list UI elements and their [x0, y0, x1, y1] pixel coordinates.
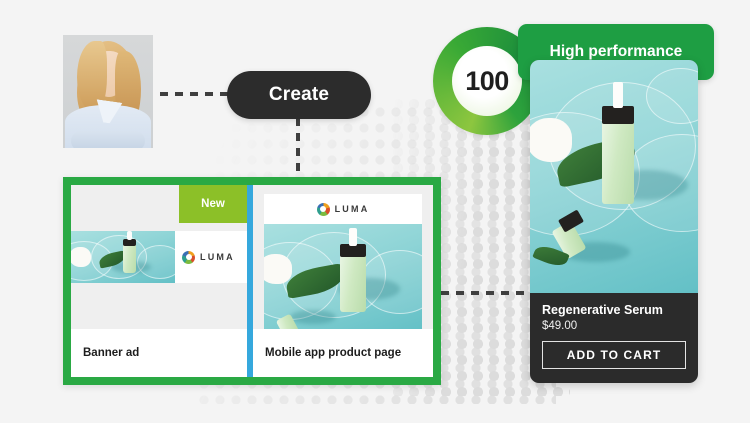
performance-score-ring-inner: 100: [452, 46, 522, 116]
connector-photo-to-create: [160, 92, 230, 96]
product-price: $49.00: [542, 320, 686, 332]
luma-logo: LUMA: [182, 251, 235, 264]
bottle-cap: [123, 239, 136, 246]
create-button-label: Create: [269, 84, 329, 106]
serum-bottle: [123, 243, 136, 273]
persona-photo: [63, 35, 153, 148]
mobile-page-preview: LUMA: [253, 185, 433, 329]
cream-blob: [530, 118, 572, 162]
product-detail-panel: Regenerative Serum $49.00 ADD TO CART: [530, 60, 698, 383]
persona-arms: [71, 131, 145, 148]
luma-mark-icon: [182, 251, 195, 264]
cream-blob: [71, 247, 91, 267]
high-performance-badge-label: High performance: [550, 43, 683, 61]
new-badge: New: [179, 185, 247, 223]
serum-product-scene: [264, 224, 422, 329]
cream-blob: [264, 254, 292, 284]
product-title: Regenerative Serum: [542, 303, 686, 317]
bottle-cap: [602, 106, 634, 124]
mobile-page-caption-label: Mobile app product page: [265, 347, 401, 359]
serum-product-scene: [530, 60, 698, 293]
new-badge-label: New: [201, 198, 225, 210]
performance-score-value: 100: [465, 66, 509, 97]
luma-logo: LUMA: [317, 203, 370, 216]
serum-bottle: [602, 120, 634, 204]
generated-assets-frame: New: [63, 177, 441, 385]
luma-wordmark: LUMA: [200, 252, 235, 262]
banner-ad-brand: LUMA: [175, 231, 247, 283]
connector-create-to-assets: [296, 118, 300, 180]
serum-product-scene: [71, 231, 175, 283]
mobile-page-hero-image: [264, 224, 422, 329]
banner-ad-caption: Banner ad: [71, 329, 247, 377]
drop-shadow: [290, 310, 336, 324]
bottle-pipette: [349, 228, 357, 246]
banner-ad-creative: LUMA: [71, 231, 247, 283]
connector-assets-to-product: [441, 291, 533, 295]
luma-wordmark: LUMA: [335, 204, 370, 214]
mobile-page-mockup: LUMA: [264, 194, 422, 329]
add-to-cart-button[interactable]: ADD TO CART: [542, 341, 686, 369]
asset-card-banner-ad[interactable]: New: [71, 185, 247, 377]
luma-mark-icon: [317, 203, 330, 216]
asset-card-mobile-app-product-page[interactable]: LUMA: [253, 185, 433, 377]
banner-ad-photo: [71, 231, 175, 283]
mobile-page-brand-bar: LUMA: [264, 194, 422, 224]
bottle-pipette: [613, 82, 623, 108]
mobile-page-caption: Mobile app product page: [253, 329, 433, 377]
product-info: Regenerative Serum $49.00 ADD TO CART: [530, 293, 698, 383]
bottle-pipette: [127, 231, 132, 240]
banner-ad-caption-label: Banner ad: [83, 347, 139, 359]
product-hero-image: [530, 60, 698, 293]
canvas: Create New: [0, 0, 750, 423]
serum-bottle: [340, 254, 366, 312]
banner-ad-preview: New: [71, 185, 247, 329]
create-button[interactable]: Create: [227, 71, 371, 119]
